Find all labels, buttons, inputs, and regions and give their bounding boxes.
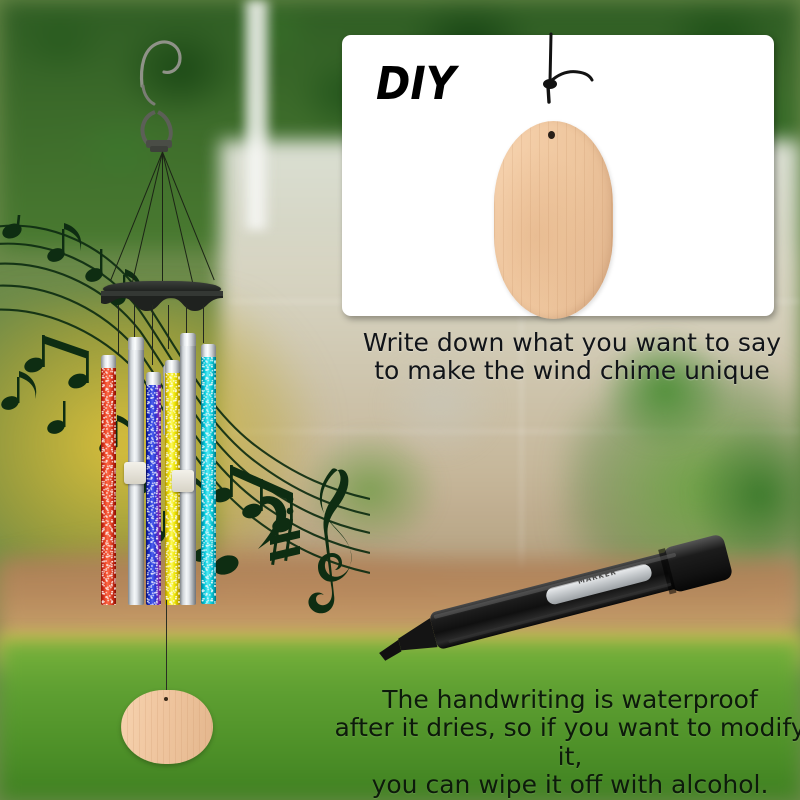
chime-clapper bbox=[124, 462, 146, 484]
product-image-stage: DIY bbox=[0, 0, 800, 800]
pendant-hole-card bbox=[548, 131, 555, 139]
wooden-pendant-bottom bbox=[121, 690, 213, 764]
tube-cyan bbox=[201, 344, 216, 604]
wooden-pendant-card bbox=[494, 121, 613, 319]
pendant-hole bbox=[164, 697, 168, 701]
chime-clapper bbox=[172, 470, 194, 492]
tube-silver-2 bbox=[180, 333, 196, 605]
diy-photo-card: DIY bbox=[342, 35, 774, 316]
s-hook bbox=[110, 28, 220, 158]
pendant-string bbox=[166, 600, 167, 696]
diy-label: DIY bbox=[376, 57, 456, 110]
caption-top: Write down what you want to say to make … bbox=[340, 329, 800, 386]
wind-chime bbox=[0, 0, 340, 800]
tube-blue bbox=[146, 372, 161, 605]
tube-red bbox=[101, 355, 116, 605]
caption-bottom: The handwriting is waterproof after it d… bbox=[332, 686, 800, 799]
